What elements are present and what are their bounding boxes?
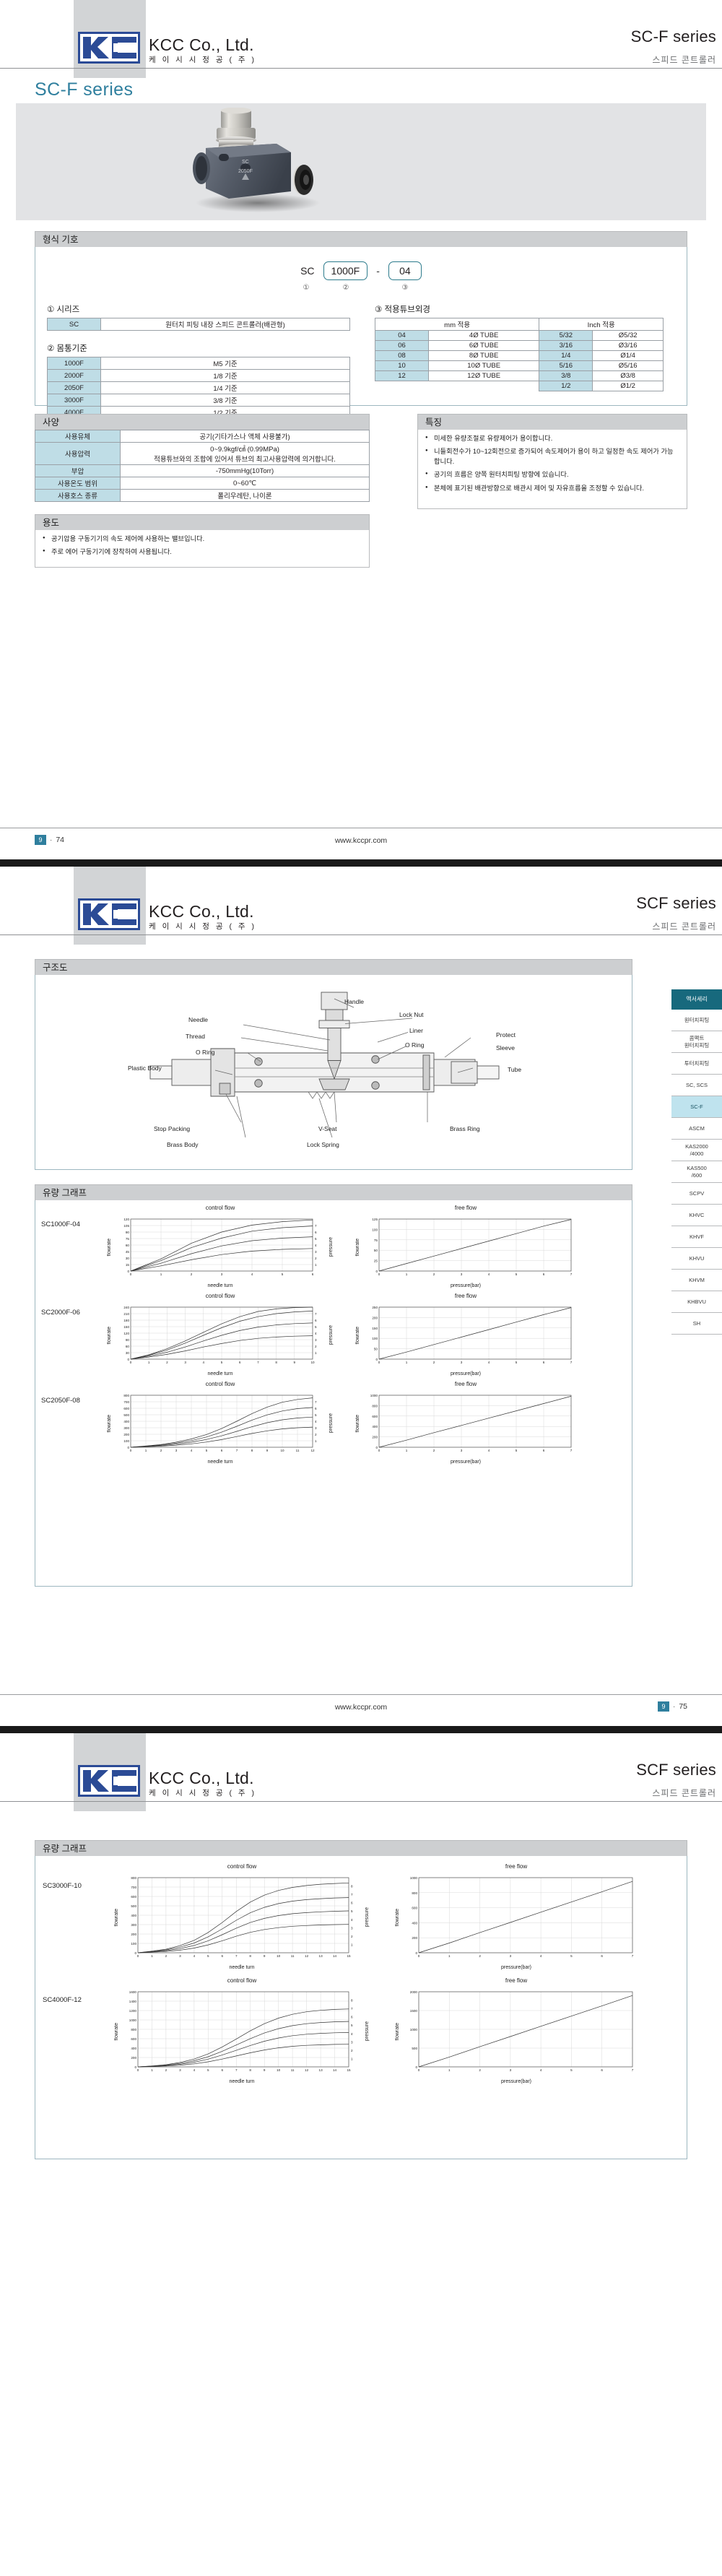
chart-group-SC3000F-10: SC3000F-10 control flow flowrate 0100200… bbox=[35, 1856, 687, 1970]
spec-key: 사용압력 bbox=[35, 443, 121, 465]
svg-text:0: 0 bbox=[137, 1954, 139, 1958]
svg-text:4: 4 bbox=[315, 1420, 317, 1423]
feature-panel: 미세한 유량조절로 유량제어가 용이합니다. 니들회전수가 10~12회전으로 … bbox=[417, 430, 687, 509]
chart-sc2050f-08-control: control flow flowrate 010020030040050060… bbox=[97, 1381, 343, 1465]
page-footer-2: www.kccpr.com 9 · 75 bbox=[0, 1694, 722, 1726]
tube-mm-desc: 12Ø TUBE bbox=[429, 371, 539, 381]
label-lock-nut: Lock Nut bbox=[399, 1011, 424, 1018]
sidebar-item-label: ASCM bbox=[689, 1125, 705, 1132]
svg-text:12: 12 bbox=[305, 2068, 309, 2072]
page-header-1: KCC Co., Ltd. 케 이 시 시 정 공 ( 주 ) SC-F ser… bbox=[0, 0, 722, 78]
tube-table: mm 적용 Inch 적용 044Ø TUBE5/32Ø5/32 066Ø TU… bbox=[375, 318, 664, 391]
svg-text:200: 200 bbox=[372, 1316, 378, 1319]
svg-text:3: 3 bbox=[460, 1272, 462, 1276]
svg-text:5: 5 bbox=[282, 1272, 284, 1276]
svg-text:6: 6 bbox=[222, 1954, 224, 1958]
table-row: 1010Ø TUBE5/16Ø5/16 bbox=[375, 361, 664, 371]
svg-text:12: 12 bbox=[305, 1954, 309, 1958]
svg-text:400: 400 bbox=[412, 1921, 417, 1925]
kcc-logo-icon bbox=[78, 1765, 140, 1797]
sidebar-item-label: KHVF bbox=[690, 1233, 704, 1240]
list-item: 공기의 흐름은 양쪽 원터치피팅 방향에 있습니다. bbox=[425, 470, 679, 480]
spec-value: 0~9.9kgf/㎠ (0.99MPa) 적용튜브와의 조합에 있어서 튜브의 … bbox=[121, 443, 370, 465]
sidebar-item-kas500-600[interactable]: KAS500 /600 bbox=[671, 1161, 722, 1183]
tube-header-mm: mm 적용 bbox=[375, 318, 539, 331]
svg-text:1: 1 bbox=[351, 2057, 353, 2060]
chart-sc1000f-04-control: control flow flowrate 015304560759010512… bbox=[97, 1205, 343, 1288]
chart-sc2050f-08-free: free flow flowrate 020040060080010000123… bbox=[343, 1381, 588, 1465]
svg-text:6: 6 bbox=[221, 1449, 223, 1452]
usage-section: 용도 공기압용 구동기기의 속도 제어에 사용하는 밸브입니다. 주로 에어 구… bbox=[35, 514, 370, 568]
body-desc: 1/8 기준 bbox=[101, 370, 350, 382]
svg-text:0: 0 bbox=[130, 1361, 132, 1364]
sidebar-item-kas2000-4000[interactable]: KAS2000 /4000 bbox=[671, 1140, 722, 1161]
header-series-title: SCF series bbox=[636, 894, 716, 913]
svg-text:600: 600 bbox=[412, 1907, 417, 1910]
svg-text:7: 7 bbox=[235, 2068, 238, 2072]
company-name-block: KCC Co., Ltd. 케 이 시 시 정 공 ( 주 ) bbox=[149, 1770, 256, 1797]
svg-text:7: 7 bbox=[631, 1954, 633, 1958]
flow-graph-heading: 유량 그래프 bbox=[35, 1184, 632, 1200]
svg-text:1200: 1200 bbox=[129, 2009, 137, 2013]
header-series-block: SCF series 스피드 콘트롤러 bbox=[636, 894, 716, 932]
svg-text:100: 100 bbox=[372, 1228, 378, 1231]
sidebar-item-sc-scs[interactable]: SC, SCS bbox=[671, 1075, 722, 1096]
sidebar-item-khvc[interactable]: KHVC bbox=[671, 1205, 722, 1226]
header-series-title: SCF series bbox=[636, 1761, 716, 1779]
flow-graph-panel: SC3000F-10 control flow flowrate 0100200… bbox=[35, 1856, 687, 2159]
tube-in-desc: Ø1/2 bbox=[593, 381, 664, 391]
svg-text:50: 50 bbox=[373, 1348, 378, 1351]
chart-title: free flow bbox=[505, 1977, 527, 1984]
list-item: 미세한 유량조절로 유량제어가 용이합니다. bbox=[425, 434, 679, 443]
label-sleeve: Sleeve bbox=[496, 1044, 515, 1051]
series-code: SC bbox=[48, 318, 101, 331]
body-code: 3000F bbox=[48, 394, 101, 407]
section-sidebar: 액서세리 원터치피팅 콤팩트 원터치피팅 투터치피팅 SC, SCS SC-F … bbox=[671, 989, 722, 1335]
marker-2: ② bbox=[325, 284, 367, 292]
svg-text:15: 15 bbox=[126, 1263, 130, 1267]
svg-text:400: 400 bbox=[131, 2047, 136, 2050]
label-tube: Tube bbox=[508, 1066, 521, 1073]
svg-text:5: 5 bbox=[206, 1449, 208, 1452]
chart-title: free flow bbox=[455, 1293, 477, 1299]
table-row: 사용온도 범위0~60℃ bbox=[35, 477, 370, 490]
svg-text:10: 10 bbox=[277, 1954, 281, 1958]
chart-xlabel: pressure(bar) bbox=[451, 1371, 481, 1376]
svg-text:15: 15 bbox=[347, 2068, 351, 2072]
svg-text:6: 6 bbox=[315, 1407, 317, 1410]
sidebar-item-label: 원터치피팅 bbox=[684, 1017, 710, 1023]
header-rule bbox=[0, 1801, 722, 1802]
table-row: 2050F1/4 기준 bbox=[48, 382, 350, 394]
catalog-page-2: KCC Co., Ltd. 케 이 시 시 정 공 ( 주 ) SCF seri… bbox=[0, 867, 722, 1726]
table-row: 1/2Ø1/2 bbox=[375, 381, 664, 391]
chart-xlabel: pressure(bar) bbox=[451, 1460, 481, 1465]
svg-text:500: 500 bbox=[412, 2047, 417, 2050]
svg-text:9: 9 bbox=[266, 1449, 269, 1452]
svg-text:8: 8 bbox=[249, 2068, 251, 2072]
chart-model-label: SC2000F-06 bbox=[35, 1293, 97, 1317]
svg-text:2: 2 bbox=[432, 1361, 435, 1364]
svg-text:0: 0 bbox=[137, 2068, 139, 2072]
sidebar-item-label: 콤팩트 원터치피팅 bbox=[684, 1035, 710, 1049]
svg-text:180: 180 bbox=[123, 1319, 129, 1322]
svg-text:1: 1 bbox=[151, 2068, 153, 2072]
chart-ylabel: flowrate bbox=[107, 1239, 112, 1257]
tube-mm-code: 06 bbox=[375, 341, 429, 351]
svg-text:4: 4 bbox=[351, 2032, 353, 2036]
svg-text:4: 4 bbox=[539, 2068, 541, 2072]
svg-text:6: 6 bbox=[542, 1361, 544, 1364]
feature-heading: 특징 bbox=[417, 414, 687, 430]
chart-y2label: pressure bbox=[329, 1413, 334, 1433]
svg-text:800: 800 bbox=[131, 1876, 136, 1880]
chart-sc2000f-06-free: free flow flowrate 050100150200250012345… bbox=[343, 1293, 588, 1376]
svg-text:600: 600 bbox=[131, 2037, 136, 2041]
svg-text:3: 3 bbox=[315, 1426, 317, 1430]
sidebar-item-one-touch-fitting[interactable]: 원터치피팅 bbox=[671, 1010, 722, 1031]
table-header-row: mm 적용 Inch 적용 bbox=[375, 318, 664, 331]
svg-text:2: 2 bbox=[160, 1449, 162, 1452]
svg-text:15: 15 bbox=[347, 1954, 351, 1958]
tube-mm-desc: 8Ø TUBE bbox=[429, 351, 539, 361]
svg-text:1: 1 bbox=[151, 1954, 153, 1958]
svg-text:6: 6 bbox=[315, 1231, 317, 1234]
tube-in-code: 5/16 bbox=[539, 361, 593, 371]
tube-in-code: 3/8 bbox=[539, 371, 593, 381]
chart-xlabel: pressure(bar) bbox=[501, 1965, 531, 1970]
svg-text:5: 5 bbox=[570, 1954, 573, 1958]
svg-text:240: 240 bbox=[123, 1306, 129, 1309]
svg-text:1: 1 bbox=[351, 1943, 353, 1946]
chart-y2label: pressure bbox=[329, 1237, 334, 1257]
chart-ylabel: flowrate bbox=[355, 1327, 360, 1345]
spec-key: 사용온도 범위 bbox=[35, 477, 121, 490]
svg-text:1: 1 bbox=[148, 1361, 150, 1364]
sidebar-item-two-touch-fitting[interactable]: 투터치피팅 bbox=[671, 1053, 722, 1075]
svg-text:8: 8 bbox=[251, 1449, 253, 1452]
svg-text:2: 2 bbox=[479, 1954, 481, 1958]
list-item: 니들회전수가 10~12회전으로 증가되어 속도제어가 용이 하고 일정한 속도… bbox=[425, 447, 679, 467]
spec-key: 사용유체 bbox=[35, 430, 121, 443]
svg-text:60: 60 bbox=[126, 1244, 130, 1247]
flow-graph-heading: 유량 그래프 bbox=[35, 1840, 687, 1856]
chart-title: control flow bbox=[206, 1293, 235, 1299]
svg-text:1000: 1000 bbox=[129, 2018, 137, 2022]
svg-text:2: 2 bbox=[165, 1954, 168, 1958]
catalog-page-1: KCC Co., Ltd. 케 이 시 시 정 공 ( 주 ) SC-F ser… bbox=[0, 0, 722, 859]
svg-text:500: 500 bbox=[123, 1413, 129, 1417]
sidebar-item-label: KHBVU bbox=[687, 1298, 706, 1305]
tube-in-code: 5/32 bbox=[539, 331, 593, 341]
structure-heading: 구조도 bbox=[35, 959, 632, 975]
company-name-en: KCC Co., Ltd. bbox=[149, 1770, 256, 1787]
svg-text:2: 2 bbox=[351, 2049, 353, 2052]
chart-grid-p3: SC3000F-10 control flow flowrate 0100200… bbox=[35, 1856, 687, 2084]
website-link[interactable]: www.kccpr.com bbox=[0, 1703, 722, 1712]
svg-text:700: 700 bbox=[123, 1400, 129, 1404]
svg-text:7: 7 bbox=[315, 1312, 317, 1316]
svg-text:4: 4 bbox=[539, 1954, 541, 1958]
table-row: SC 원터치 피팅 내장 스피드 콘트롤러(배관형) bbox=[48, 318, 350, 331]
label-lock-spring: Lock Spring bbox=[307, 1141, 339, 1148]
svg-text:6: 6 bbox=[239, 1361, 241, 1364]
company-name-en: KCC Co., Ltd. bbox=[149, 903, 256, 920]
svg-text:4: 4 bbox=[203, 1361, 205, 1364]
chart-xlabel: needle turn bbox=[229, 2079, 254, 2084]
label-liner: Liner bbox=[409, 1027, 423, 1034]
svg-text:400: 400 bbox=[131, 1914, 136, 1917]
svg-text:200: 200 bbox=[131, 2056, 136, 2060]
svg-text:6: 6 bbox=[601, 2068, 603, 2072]
flow-graph-panel: SC1000F-04 control flow flowrate 0153045… bbox=[35, 1200, 632, 1587]
table-row: 사용유체공기(기타가스나 액체 사용불가) bbox=[35, 430, 370, 443]
svg-text:210: 210 bbox=[123, 1312, 129, 1316]
chart-ylabel: flowrate bbox=[355, 1239, 360, 1257]
model-code-markers: ① ② ③ bbox=[35, 284, 687, 292]
svg-text:1600: 1600 bbox=[129, 1990, 137, 1994]
list-item: 본체에 표기된 배관방향으로 배관시 제어 및 자유흐름을 조정할 수 있습니다… bbox=[425, 484, 679, 493]
flow-graph-section-p2: 유량 그래프 SC1000F-04 control flow flowrate … bbox=[35, 1184, 632, 1587]
svg-text:3: 3 bbox=[351, 2040, 353, 2044]
chart-group-SC2050F-08: SC2050F-08 control flow flowrate 0100200… bbox=[35, 1376, 632, 1465]
sidebar-item-label: SH bbox=[693, 1320, 700, 1327]
svg-text:200: 200 bbox=[412, 1936, 417, 1940]
table-row: 사용호스 종류폴리우레탄, 나이론 bbox=[35, 490, 370, 502]
body-desc: 1/4 기준 bbox=[101, 382, 350, 394]
series-table: SC 원터치 피팅 내장 스피드 콘트롤러(배관형) bbox=[47, 318, 350, 331]
structure-section: 구조도 bbox=[35, 959, 632, 1170]
tube-in-desc: Ø5/16 bbox=[593, 361, 664, 371]
chart-xlabel: needle turn bbox=[229, 1965, 254, 1970]
table-row: 088Ø TUBE1/4Ø1/4 bbox=[375, 351, 664, 361]
model-code-prefix: SC bbox=[300, 265, 314, 277]
structure-panel: Needle Thread Plastic Body O Ring Handle… bbox=[35, 975, 632, 1170]
svg-text:100: 100 bbox=[131, 1942, 136, 1946]
spec-value-line2: 적용튜브와의 조합에 있어서 튜브의 최고사용압력에 의거합니다. bbox=[154, 456, 336, 464]
chart-sc1000f-04-free: free flow flowrate 025507510012501234567… bbox=[343, 1205, 588, 1288]
svg-text:6: 6 bbox=[351, 1901, 353, 1905]
model-code-dash: - bbox=[376, 265, 380, 277]
svg-text:75: 75 bbox=[126, 1237, 130, 1241]
svg-text:5: 5 bbox=[515, 1361, 517, 1364]
body-code: 2000F bbox=[48, 370, 101, 382]
body-table: 1000FM5 기준 2000F1/8 기준 2050F1/4 기준 3000F… bbox=[47, 357, 350, 419]
tube-in-desc: Ø3/8 bbox=[593, 371, 664, 381]
svg-text:6: 6 bbox=[222, 2068, 224, 2072]
company-logo-block: KCC Co., Ltd. 케 이 시 시 정 공 ( 주 ) bbox=[78, 1765, 256, 1797]
sidebar-item-sh[interactable]: SH bbox=[671, 1313, 722, 1335]
tube-mm-desc: 10Ø TUBE bbox=[429, 361, 539, 371]
company-name-block: KCC Co., Ltd. 케 이 시 시 정 공 ( 주 ) bbox=[149, 37, 256, 64]
chart-model-label: SC3000F-10 bbox=[35, 1863, 105, 1890]
spec-value: 0~60℃ bbox=[121, 477, 370, 490]
header-series-title: SC-F series bbox=[631, 27, 716, 46]
svg-text:600: 600 bbox=[131, 1895, 136, 1899]
series-table-title: ① 시리즈 bbox=[47, 303, 350, 315]
svg-text:10: 10 bbox=[277, 2068, 281, 2072]
svg-text:3: 3 bbox=[184, 1361, 186, 1364]
label-thread: Thread bbox=[186, 1033, 205, 1040]
label-stop-packing: Stop Packing bbox=[154, 1125, 190, 1132]
sidebar-item-label: KAS2000 /4000 bbox=[685, 1143, 708, 1157]
spec-key: 사용호스 종류 bbox=[35, 490, 121, 502]
svg-text:1000: 1000 bbox=[409, 2028, 417, 2031]
svg-text:25: 25 bbox=[373, 1259, 378, 1263]
svg-text:300: 300 bbox=[131, 1923, 136, 1927]
spec-value-line1: 0~9.9kgf/㎠ (0.99MPa) bbox=[210, 446, 279, 454]
body-table-title: ② 몸통기준 bbox=[47, 342, 350, 354]
spec-value: 공기(기타가스나 액체 사용불가) bbox=[121, 430, 370, 443]
marker-3: ③ bbox=[384, 284, 426, 292]
svg-text:800: 800 bbox=[123, 1394, 129, 1397]
chart-y2label: pressure bbox=[329, 1325, 334, 1345]
page-footer-1: 9 · 74 www.kccpr.com bbox=[0, 828, 722, 859]
svg-text:4: 4 bbox=[251, 1272, 253, 1276]
svg-text:7: 7 bbox=[236, 1449, 238, 1452]
svg-text:125: 125 bbox=[372, 1218, 378, 1221]
header-rule bbox=[0, 68, 722, 69]
tube-in-code: 3/16 bbox=[539, 341, 593, 351]
svg-text:5: 5 bbox=[315, 1237, 317, 1241]
svg-text:1: 1 bbox=[448, 2068, 451, 2072]
model-code-tube[interactable]: 04 bbox=[388, 261, 422, 280]
svg-text:100: 100 bbox=[372, 1337, 378, 1340]
label-needle: Needle bbox=[188, 1016, 208, 1023]
chart-ylabel: flowrate bbox=[355, 1415, 360, 1433]
svg-text:300: 300 bbox=[123, 1426, 129, 1430]
company-name-en: KCC Co., Ltd. bbox=[149, 37, 256, 53]
svg-text:8: 8 bbox=[275, 1361, 277, 1364]
catalog-page-3: KCC Co., Ltd. 케 이 시 시 정 공 ( 주 ) SCF seri… bbox=[0, 1733, 722, 2576]
tube-in-code: 1/2 bbox=[539, 381, 593, 391]
chart-title: control flow bbox=[206, 1205, 235, 1211]
svg-text:6: 6 bbox=[312, 1272, 314, 1276]
sidebar-item-khvu[interactable]: KHVU bbox=[671, 1248, 722, 1270]
svg-text:200: 200 bbox=[131, 1933, 136, 1936]
label-v-seat: V-Seat bbox=[318, 1125, 337, 1132]
tube-header-inch: Inch 적용 bbox=[539, 318, 664, 331]
svg-text:11: 11 bbox=[296, 1449, 300, 1452]
sidebar-item-sc-f[interactable]: SC-F bbox=[671, 1096, 722, 1118]
page-header-3: KCC Co., Ltd. 케 이 시 시 정 공 ( 주 ) SCF seri… bbox=[0, 1733, 722, 1811]
kcc-logo-icon bbox=[78, 32, 140, 64]
svg-text:11: 11 bbox=[291, 1954, 295, 1958]
tube-in-desc: Ø5/32 bbox=[593, 331, 664, 341]
product-photo-band: SC 2050F 표시기호 bbox=[16, 103, 706, 220]
table-row: 1212Ø TUBE3/8Ø3/8 bbox=[375, 371, 664, 381]
svg-text:1: 1 bbox=[405, 1361, 407, 1364]
svg-text:200: 200 bbox=[123, 1433, 129, 1436]
spec-heading: 사양 bbox=[35, 414, 370, 430]
sidebar-item-label: KAS500 /600 bbox=[687, 1165, 707, 1179]
spec-value: 폴리우레탄, 나이론 bbox=[121, 490, 370, 502]
sidebar-item-khbvu[interactable]: KHBVU bbox=[671, 1291, 722, 1313]
chart-group-SC4000F-12: SC4000F-12 control flow flowrate 0200400… bbox=[35, 1970, 687, 2084]
body-desc: M5 기준 bbox=[101, 357, 350, 370]
svg-text:3: 3 bbox=[315, 1338, 317, 1342]
label-brass-ring: Brass Ring bbox=[450, 1125, 480, 1132]
svg-text:14: 14 bbox=[333, 2068, 337, 2072]
table-row: 1000FM5 기준 bbox=[48, 357, 350, 370]
sidebar-item-ascm[interactable]: ASCM bbox=[671, 1118, 722, 1140]
chart-title: control flow bbox=[206, 1381, 235, 1387]
usage-heading: 용도 bbox=[35, 514, 370, 530]
tube-mm-code: 04 bbox=[375, 331, 429, 341]
spec-table: 사용유체공기(기타가스나 액체 사용불가) 사용압력 0~9.9kgf/㎠ (0… bbox=[35, 430, 370, 502]
label-protect: Protect bbox=[496, 1031, 516, 1038]
model-code-body[interactable]: 1000F bbox=[323, 261, 368, 280]
chart-title: free flow bbox=[455, 1205, 477, 1211]
chapter-number: 9 bbox=[658, 1701, 669, 1712]
svg-text:10: 10 bbox=[310, 1361, 315, 1364]
svg-text:3: 3 bbox=[179, 1954, 181, 1958]
sidebar-item-scpv[interactable]: SCPV bbox=[671, 1183, 722, 1205]
svg-text:4: 4 bbox=[191, 1449, 193, 1452]
svg-text:3: 3 bbox=[460, 1361, 462, 1364]
footer-rule bbox=[0, 1694, 722, 1695]
svg-text:0: 0 bbox=[378, 1361, 380, 1364]
tube-mm-code: 12 bbox=[375, 371, 429, 381]
svg-text:45: 45 bbox=[126, 1250, 130, 1254]
svg-text:9: 9 bbox=[294, 1361, 296, 1364]
svg-text:9: 9 bbox=[264, 2068, 266, 2072]
sidebar-item-khvf[interactable]: KHVF bbox=[671, 1226, 722, 1248]
page-title: SC-F series bbox=[35, 79, 133, 100]
svg-text:3: 3 bbox=[221, 1272, 223, 1276]
tube-in-desc: Ø3/16 bbox=[593, 341, 664, 351]
body-table-block: ② 몸통기준 1000FM5 기준 2000F1/8 기준 2050F1/4 기… bbox=[47, 342, 350, 419]
spec-section: 사양 사용유체공기(기타가스나 액체 사용불가) 사용압력 0~9.9kgf/㎠… bbox=[35, 414, 370, 502]
spec-value: -750mmHg(10Torr) bbox=[121, 465, 370, 477]
chart-sc2000f-06-control: control flow flowrate 030609012015018021… bbox=[97, 1293, 343, 1376]
svg-text:10: 10 bbox=[280, 1449, 284, 1452]
header-series-block: SCF series 스피드 콘트롤러 bbox=[636, 1761, 716, 1799]
svg-text:6: 6 bbox=[351, 2016, 353, 2019]
svg-text:200: 200 bbox=[372, 1436, 378, 1439]
website-link[interactable]: www.kccpr.com bbox=[0, 836, 722, 845]
list-item: 공기압용 구동기기의 속도 제어에 사용하는 밸브입니다. bbox=[43, 534, 362, 544]
company-logo-block: KCC Co., Ltd. 케 이 시 시 정 공 ( 주 ) bbox=[78, 32, 256, 64]
spec-key: 부압 bbox=[35, 465, 121, 477]
tube-mm-desc: 4Ø TUBE bbox=[429, 331, 539, 341]
header-series-subtitle: 스피드 콘트롤러 bbox=[636, 1787, 716, 1799]
svg-text:5: 5 bbox=[207, 1954, 209, 1958]
svg-text:3: 3 bbox=[175, 1449, 178, 1452]
svg-text:7: 7 bbox=[315, 1400, 317, 1404]
svg-text:50: 50 bbox=[373, 1249, 378, 1252]
svg-text:1: 1 bbox=[315, 1439, 317, 1443]
table-row: 부압-750mmHg(10Torr) bbox=[35, 465, 370, 477]
chart-ylabel: flowrate bbox=[107, 1327, 112, 1345]
svg-text:5: 5 bbox=[515, 1449, 517, 1452]
svg-text:120: 120 bbox=[123, 1332, 129, 1335]
svg-text:600: 600 bbox=[123, 1407, 129, 1410]
body-code: 1000F bbox=[48, 357, 101, 370]
svg-text:2: 2 bbox=[191, 1272, 193, 1276]
feature-list: 미세한 유량조절로 유량제어가 용이합니다. 니들회전수가 10~12회전으로 … bbox=[418, 430, 687, 503]
svg-text:2: 2 bbox=[166, 1361, 168, 1364]
svg-text:5: 5 bbox=[315, 1413, 317, 1417]
sidebar-item-khvm[interactable]: KHVM bbox=[671, 1270, 722, 1291]
sidebar-item-compact-one-touch[interactable]: 콤팩트 원터치피팅 bbox=[671, 1031, 722, 1053]
svg-text:600: 600 bbox=[372, 1415, 378, 1418]
svg-text:7: 7 bbox=[351, 2007, 353, 2011]
svg-text:0: 0 bbox=[130, 1449, 132, 1452]
speed-controller-photo: SC 2050F bbox=[149, 108, 337, 216]
svg-text:3: 3 bbox=[315, 1250, 317, 1254]
